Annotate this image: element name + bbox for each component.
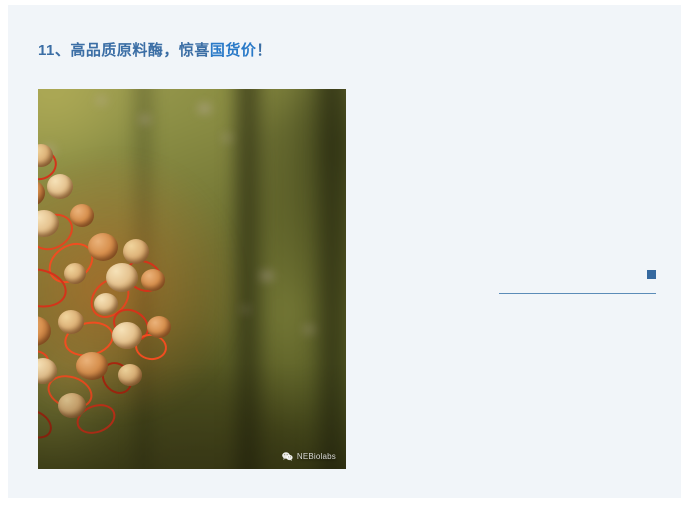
protein-blob-17 [38, 316, 51, 346]
background-fleck-2 [140, 116, 150, 123]
background-fleck-7 [303, 325, 315, 334]
protein-blob-4 [38, 180, 45, 206]
background-stalk-2 [309, 89, 346, 469]
wechat-icon [282, 452, 293, 461]
horizontal-rule [499, 293, 656, 294]
protein-blob-28 [94, 293, 118, 315]
page-root: 11、高品质原料酶，惊喜国货价！ [8, 5, 681, 498]
page-title-suffix: ！ [256, 42, 272, 59]
molecule-cluster [38, 138, 254, 434]
molecule-illustration: NEBiolabs [38, 89, 346, 469]
page-title-primary: 高品质原料酶，惊喜 [70, 42, 210, 59]
protein-blob-20 [147, 316, 171, 338]
page-title: 11、高品质原料酶，惊喜国货价！ [38, 40, 272, 62]
page-title-accent: 国货价 [210, 42, 257, 59]
background-fleck-3 [97, 97, 106, 104]
protein-blob-23 [76, 352, 108, 380]
protein-blob-14 [141, 269, 165, 291]
protein-blob-19 [112, 322, 142, 349]
protein-blob-29 [64, 263, 86, 284]
protein-blob-13 [106, 263, 138, 292]
protein-blob-24 [118, 364, 142, 386]
figure-block: NEBiolabs [38, 89, 346, 469]
blue-square-marker [647, 270, 656, 279]
page-title-number: 11、 [38, 42, 70, 59]
protein-blob-5 [47, 174, 73, 199]
watermark: NEBiolabs [282, 452, 336, 461]
watermark-label: NEBiolabs [297, 452, 336, 461]
protein-blob-8 [70, 204, 94, 227]
protein-blob-11 [88, 233, 118, 261]
